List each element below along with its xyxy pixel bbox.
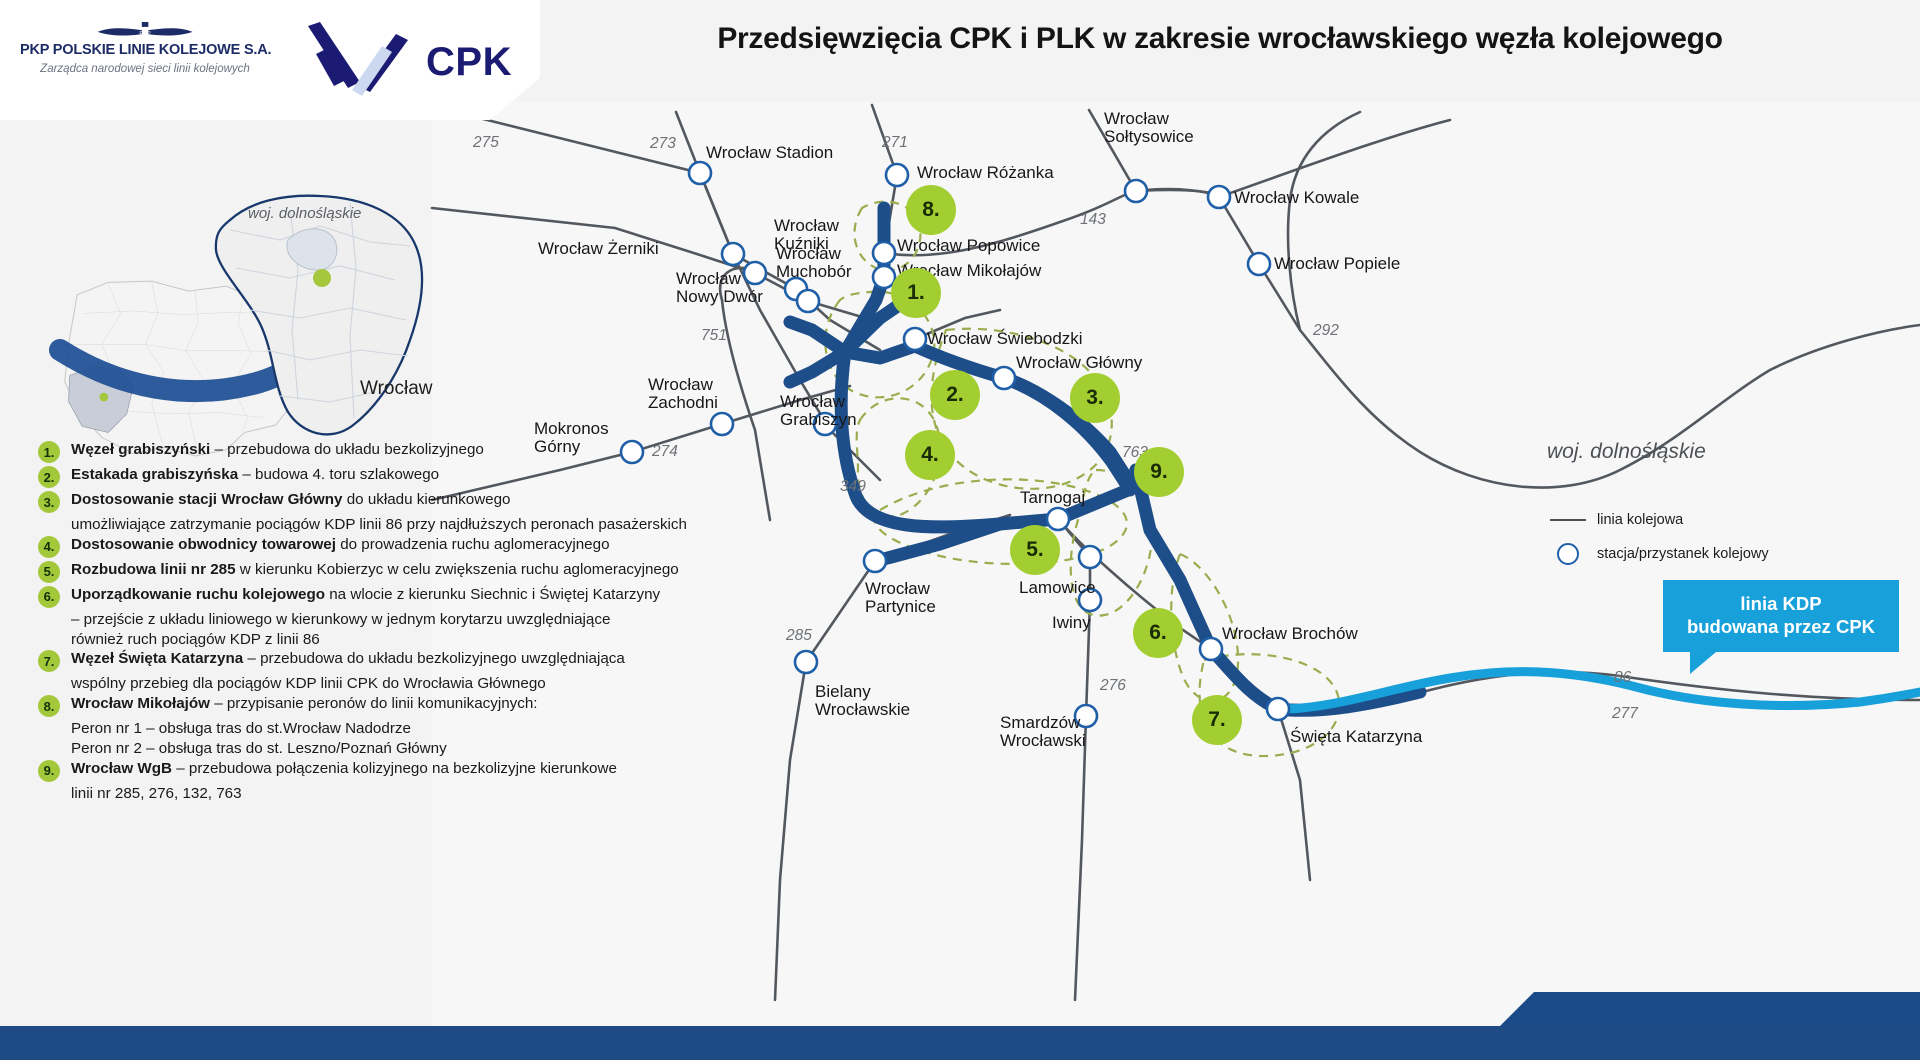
rail-line-number: 292 — [1313, 322, 1339, 340]
legend-item: 6.Uporządkowanie ruchu kolejowego na wlo… — [38, 585, 758, 608]
station-node — [993, 367, 1015, 389]
inset-city-label: Wrocław — [360, 378, 433, 400]
project-marker: 8. — [906, 185, 956, 235]
legend-item-continuation: wspólny przebieg dla pociągów KDP linii … — [71, 674, 758, 694]
project-marker: 9. — [1134, 447, 1184, 497]
station-label: Święta Katarzyna — [1290, 728, 1422, 746]
station-label: Wrocław Sołtysowice — [1104, 110, 1194, 146]
station-circle-icon — [1545, 543, 1591, 565]
legend-item-continuation: Peron nr 1 – obsługa tras do st.Wrocław … — [71, 719, 758, 739]
station-label: Wrocław Żerniki — [538, 240, 659, 258]
legend-item: 8.Wrocław Mikołajów – przypisanie peronó… — [38, 694, 758, 717]
station-node — [795, 651, 817, 673]
legend-item-text: Węzeł grabiszyński – przebudowa do układ… — [71, 440, 484, 460]
rail-line-number: 285 — [786, 627, 812, 645]
rail-line-number: 277 — [1612, 705, 1638, 723]
legend-item: 5.Rozbudowa linii nr 285 w kierunku Kobi… — [38, 560, 758, 583]
legend-item-continuation: umożliwiające zatrzymanie pociągów KDP l… — [71, 515, 758, 535]
legend-item-text: Węzeł Święta Katarzyna – przebudowa do u… — [71, 649, 625, 669]
legend-item: 4.Dostosowanie obwodnicy towarowej do pr… — [38, 535, 758, 558]
project-marker: 6. — [1133, 608, 1183, 658]
inset-maps: woj. dolnośląskie Wrocław — [30, 150, 590, 470]
project-marker: 1. — [891, 268, 941, 318]
rail-line-number: 275 — [473, 134, 499, 152]
cpk-logo: CPK — [300, 20, 510, 100]
station-node — [873, 242, 895, 264]
bottom-accent-bar — [1500, 992, 1920, 1026]
project-marker: 2. — [930, 370, 980, 420]
legend-item-number: 5. — [38, 561, 60, 583]
legend-item-number: 2. — [38, 466, 60, 488]
legend-item-text: Rozbudowa linii nr 285 w kierunku Kobier… — [71, 560, 679, 580]
pkp-company-name: PKP POLSKIE LINIE KOLEJOWE S.A. — [20, 42, 270, 58]
rail-line-number: 143 — [1080, 211, 1106, 229]
map-voivodeship-label: woj. dolnośląskie — [1547, 440, 1706, 464]
legend-item-number: 6. — [38, 586, 60, 608]
rail-line-number: 273 — [650, 135, 676, 153]
project-marker: 7. — [1192, 695, 1242, 745]
legend-item: 3.Dostosowanie stacji Wrocław Główny do … — [38, 490, 758, 513]
rail-line-icon — [1545, 519, 1591, 522]
legend-row-line: linia kolejowa — [1545, 512, 1769, 528]
legend-item-number: 1. — [38, 441, 60, 463]
station-label: Wrocław Różanka — [917, 164, 1054, 182]
inset-voivodeship-label: woj. dolnośląskie — [248, 205, 361, 222]
station-label: Smardzów Wrocławski — [1000, 714, 1086, 750]
station-label: Wrocław Kowale — [1234, 189, 1359, 207]
project-marker: 3. — [1070, 373, 1120, 423]
legend-item-number: 9. — [38, 760, 60, 782]
station-node — [1200, 638, 1222, 660]
station-label: Wrocław Brochów — [1222, 625, 1358, 643]
cpk-mark-icon — [300, 20, 430, 100]
station-node — [711, 413, 733, 435]
map-symbol-legend: linia kolejowa stacja/przystanek kolejow… — [1545, 512, 1769, 580]
svg-text:PKP: PKP — [139, 31, 151, 37]
kdp-callout-tail — [1690, 652, 1716, 674]
poland-and-voivodeship-inset — [30, 150, 590, 470]
rail-line-number: 86 — [1614, 669, 1631, 687]
station-label: Wrocław Stadion — [706, 144, 833, 162]
station-node — [1125, 180, 1147, 202]
station-node — [1248, 253, 1270, 275]
station-node — [722, 243, 744, 265]
rail-line-number: 349 — [840, 478, 866, 496]
rail-line-number: 751 — [701, 327, 727, 345]
pkp-subtitle: Zarządca narodowej sieci linii kolejowyc… — [20, 63, 270, 75]
legend-station-label: stacja/przystanek kolejowy — [1597, 546, 1769, 562]
station-label: Bielany Wrocławskie — [815, 683, 910, 719]
kdp-line-2: budowana przez CPK — [1663, 616, 1899, 639]
legend-item: 7.Węzeł Święta Katarzyna – przebudowa do… — [38, 649, 758, 672]
legend-item-number: 7. — [38, 650, 60, 672]
project-marker: 5. — [1010, 525, 1060, 575]
station-label: Wrocław Partynice — [865, 580, 936, 616]
legend-line-label: linia kolejowa — [1597, 512, 1683, 528]
station-node — [797, 290, 819, 312]
legend-row-station: stacja/przystanek kolejowy — [1545, 543, 1769, 565]
pkp-logo: PKP PKP POLSKIE LINIE KOLEJOWE S.A. Zarz… — [20, 22, 270, 75]
station-label: Tarnogaj — [1020, 489, 1085, 507]
station-label: Wrocław Grabiszyn — [780, 393, 857, 429]
legend-item: 9.Wrocław WgB – przebudowa połączenia ko… — [38, 759, 758, 782]
logo-panel: PKP PKP POLSKIE LINIE KOLEJOWE S.A. Zarz… — [0, 0, 540, 120]
legend-item-continuation: – przejście z układu liniowego w kierunk… — [71, 610, 758, 630]
station-label: Iwiny — [1052, 614, 1091, 632]
station-label: Wrocław Świebodzki — [927, 330, 1083, 348]
legend-item-number: 4. — [38, 536, 60, 558]
legend-item-text: Dostosowanie stacji Wrocław Główny do uk… — [71, 490, 511, 510]
station-node — [1079, 546, 1101, 568]
pkp-wing-icon: PKP — [96, 22, 194, 40]
legend-item: 2.Estakada grabiszyńska – budowa 4. toru… — [38, 465, 758, 488]
station-node — [1267, 698, 1289, 720]
page-title: Przedsięwzięcia CPK i PLK w zakresie wro… — [560, 22, 1880, 56]
rail-line-number: 271 — [882, 134, 908, 152]
station-node — [1208, 186, 1230, 208]
cpk-wordmark: CPK — [426, 40, 512, 85]
kdp-line-1: linia KDP — [1663, 593, 1899, 616]
bottom-bar — [0, 1026, 1920, 1060]
legend-item-text: Wrocław WgB – przebudowa połączenia koli… — [71, 759, 617, 779]
legend-item-continuation: Peron nr 2 – obsługa tras do st. Leszno/… — [71, 739, 758, 759]
rail-line-number: 276 — [1100, 677, 1126, 695]
legend-item: 1.Węzeł grabiszyński – przebudowa do ukł… — [38, 440, 758, 463]
station-label: Wrocław Popowice — [897, 237, 1040, 255]
station-label: Lamowice — [1019, 579, 1096, 597]
station-node — [689, 162, 711, 184]
station-node — [904, 328, 926, 350]
legend-item-continuation: linii nr 285, 276, 132, 763 — [71, 784, 758, 804]
station-label: Wrocław Główny — [1016, 354, 1142, 372]
legend-item-text: Dostosowanie obwodnicy towarowej do prow… — [71, 535, 610, 555]
kdp-callout-text: linia KDP budowana przez CPK — [1663, 580, 1899, 638]
legend-item-continuation: również ruch pociągów KDP z linii 86 — [71, 630, 758, 650]
station-label: Wrocław Nowy Dwór — [676, 270, 763, 306]
station-node — [1047, 508, 1069, 530]
legend-item-text: Uporządkowanie ruchu kolejowego na wloci… — [71, 585, 660, 605]
legend-item-number: 3. — [38, 491, 60, 513]
legend-item-text: Wrocław Mikołajów – przypisanie peronów … — [71, 694, 538, 714]
kdp-callout: linia KDP budowana przez CPK — [1663, 580, 1899, 652]
station-node — [886, 164, 908, 186]
station-label: Wrocław Popiele — [1274, 255, 1400, 273]
station-label: Wrocław Muchobór — [776, 245, 852, 281]
station-label: Wrocław Zachodni — [648, 376, 718, 412]
project-legend-list: 1.Węzeł grabiszyński – przebudowa do ukł… — [38, 440, 758, 803]
infographic-root: PKP PKP POLSKIE LINIE KOLEJOWE S.A. Zarz… — [0, 0, 1920, 1060]
project-marker: 4. — [905, 430, 955, 480]
legend-item-number: 8. — [38, 695, 60, 717]
station-node — [864, 550, 886, 572]
legend-item-text: Estakada grabiszyńska – budowa 4. toru s… — [71, 465, 439, 485]
